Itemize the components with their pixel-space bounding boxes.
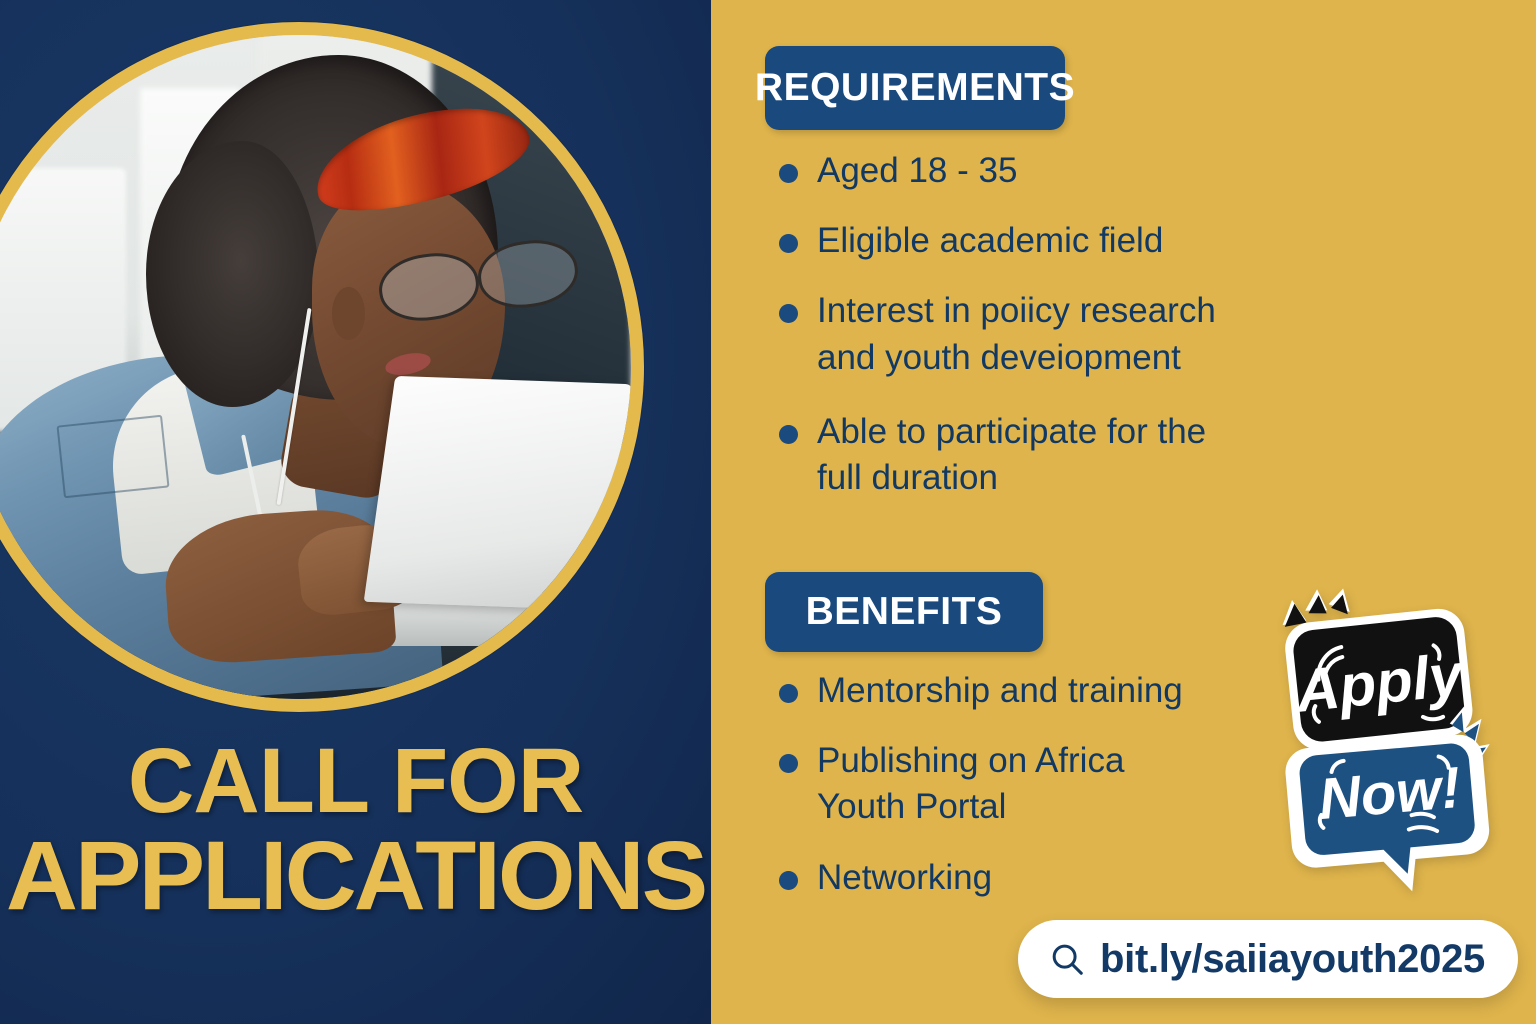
photo-circle-ring bbox=[0, 22, 644, 712]
bullet-dot-icon bbox=[779, 684, 798, 703]
bullet-dot-icon bbox=[779, 754, 798, 773]
bullet-dot-icon bbox=[779, 304, 798, 323]
list-item: Interest in poiicy research and youth de… bbox=[757, 288, 1227, 380]
list-item: Aged 18 - 35 bbox=[757, 148, 1317, 194]
headline-line-1: CALL FOR bbox=[128, 730, 583, 832]
headline-line-2: APPLICATIONS bbox=[0, 827, 711, 924]
requirements-badge: REQUIREMENTS bbox=[765, 46, 1065, 130]
url-pill[interactable]: bit.ly/saiiayouth2025 bbox=[1018, 920, 1518, 998]
list-item: Able to participate for the full duratio… bbox=[757, 409, 1227, 501]
list-item: Publishing on Africa Youth Portal bbox=[757, 738, 1147, 830]
portrait-photo bbox=[0, 35, 631, 699]
requirements-list: Aged 18 - 35 Eligible academic field Int… bbox=[757, 148, 1317, 525]
benefits-badge: BENEFITS bbox=[765, 572, 1043, 652]
list-item-label: Aged 18 - 35 bbox=[817, 151, 1017, 190]
list-item: Eligible academic field bbox=[757, 218, 1317, 264]
list-item-label: Mentorship and training bbox=[817, 671, 1183, 710]
list-item-label: Interest in poiicy research and youth de… bbox=[817, 291, 1216, 376]
list-item-label: Able to participate for the full duratio… bbox=[817, 412, 1206, 497]
bullet-dot-icon bbox=[779, 234, 798, 253]
page-title: CALL FOR APPLICATIONS bbox=[0, 735, 711, 924]
apply-now-sticker[interactable]: Apply Now! bbox=[1262, 580, 1527, 910]
poster-canvas: CALL FOR APPLICATIONS REQUIREMENTS Aged … bbox=[0, 0, 1536, 1024]
url-text: bit.ly/saiiayouth2025 bbox=[1100, 937, 1485, 982]
list-item: Networking bbox=[757, 855, 1317, 901]
bullet-dot-icon bbox=[779, 871, 798, 890]
search-icon bbox=[1048, 940, 1086, 978]
left-navy-panel: CALL FOR APPLICATIONS bbox=[0, 0, 711, 1024]
bullet-dot-icon bbox=[779, 164, 798, 183]
bullet-dot-icon bbox=[779, 425, 798, 444]
list-item-label: Eligible academic field bbox=[817, 221, 1163, 260]
list-item: Mentorship and training bbox=[757, 668, 1317, 714]
benefits-list: Mentorship and training Publishing on Af… bbox=[757, 668, 1317, 925]
list-item-label: Networking bbox=[817, 858, 992, 897]
sticker-line-2-text: Now! bbox=[1316, 755, 1463, 832]
list-item-label: Publishing on Africa Youth Portal bbox=[817, 741, 1124, 826]
